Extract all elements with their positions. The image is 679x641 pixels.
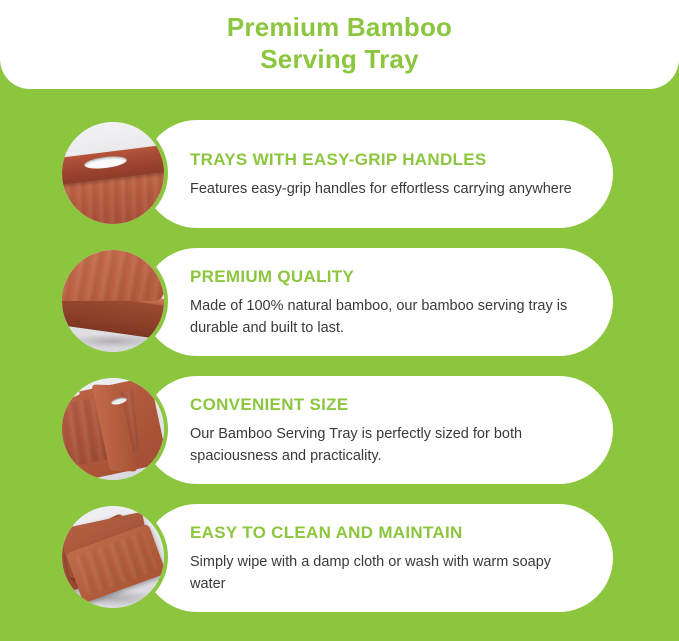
product-infographic: Premium Bamboo Serving Tray TRAYS WITH E… (0, 0, 679, 641)
feature-body: Our Bamboo Serving Tray is perfectly siz… (190, 423, 579, 467)
wood-grain-texture (62, 250, 164, 301)
thumb-image-frame (62, 378, 164, 480)
page-title-line-2: Serving Tray (260, 44, 418, 74)
feature-row: EASY TO CLEAN AND MAINTAIN Simply wipe w… (0, 502, 679, 614)
page-title-line-1: Premium Bamboo (227, 12, 452, 42)
feature-body: Simply wipe with a damp cloth or wash wi… (190, 551, 579, 595)
feature-heading: EASY TO CLEAN AND MAINTAIN (190, 522, 579, 544)
tray-handle-closeup-photo (58, 118, 168, 228)
feature-heading: TRAYS WITH EASY-GRIP HANDLES (190, 149, 579, 171)
thumb-image-frame (62, 250, 164, 352)
feature-card-premium-quality: PREMIUM QUALITY Made of 100% natural bam… (143, 248, 613, 356)
feature-heading: CONVENIENT SIZE (190, 394, 579, 416)
feature-card-easy-to-clean-and-maintain: EASY TO CLEAN AND MAINTAIN Simply wipe w… (143, 504, 613, 612)
feature-body: Made of 100% natural bamboo, our bamboo … (190, 295, 579, 339)
thumb-image-frame (62, 506, 164, 608)
feature-body: Features easy-grip handles for effortles… (190, 178, 579, 200)
thumb-image-frame (62, 122, 164, 224)
stacked-trays-photo (58, 502, 168, 612)
feature-card-convenient-size: CONVENIENT SIZE Our Bamboo Serving Tray … (143, 376, 613, 484)
header-card: Premium Bamboo Serving Tray (0, 0, 679, 89)
feature-card-trays-with-easy-grip-handles: TRAYS WITH EASY-GRIP HANDLES Features ea… (143, 120, 613, 228)
page-title: Premium Bamboo Serving Tray (227, 11, 452, 75)
feature-row: PREMIUM QUALITY Made of 100% natural bam… (0, 246, 679, 358)
feature-row: CONVENIENT SIZE Our Bamboo Serving Tray … (0, 374, 679, 486)
feature-row: TRAYS WITH EASY-GRIP HANDLES Features ea… (0, 118, 679, 230)
feature-heading: PREMIUM QUALITY (190, 266, 579, 288)
tray-angled-view-photo (58, 374, 168, 484)
tray-corner-closeup-photo (58, 246, 168, 356)
